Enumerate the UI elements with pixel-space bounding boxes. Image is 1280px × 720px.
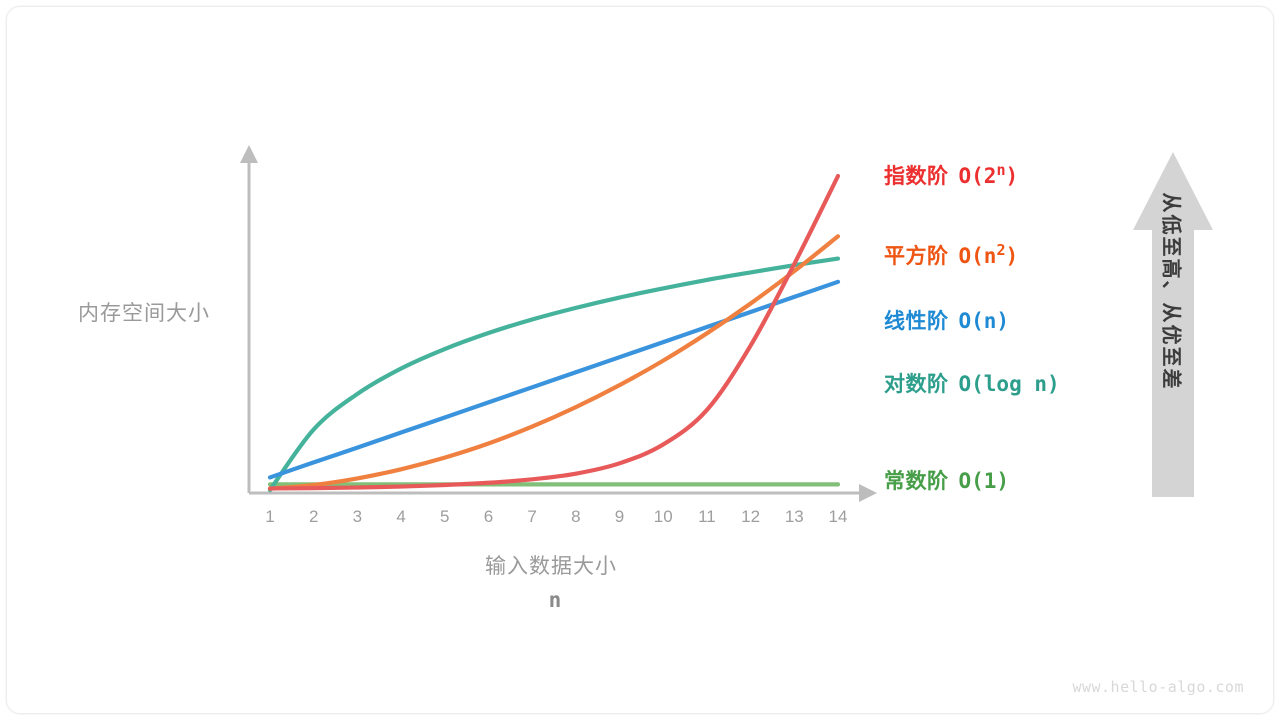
series-curve-对数阶 bbox=[270, 259, 838, 490]
legend-item-常数阶[interactable]: 常数阶O(1) bbox=[884, 471, 1009, 492]
arrow-label: 从低至高、从优至差 bbox=[1159, 162, 1188, 422]
x-tick-label: 7 bbox=[517, 507, 547, 527]
legend-notation: O(n2) bbox=[959, 244, 1019, 268]
x-tick-label: 9 bbox=[605, 507, 635, 527]
legend-label: 对数阶 bbox=[884, 373, 949, 396]
legend-label: 指数阶 bbox=[884, 165, 949, 188]
x-tick-label: 2 bbox=[299, 507, 329, 527]
watermark: www.hello-algo.com bbox=[1072, 678, 1244, 696]
x-tick-label: 14 bbox=[823, 507, 853, 527]
legend-item-指数阶[interactable]: 指数阶O(2n) bbox=[884, 166, 1018, 187]
legend-notation: O(log n) bbox=[959, 372, 1060, 396]
x-tick-label: 1 bbox=[255, 507, 285, 527]
series-paths bbox=[270, 176, 838, 490]
series-curve-线性阶 bbox=[270, 282, 838, 478]
x-tick-label: 5 bbox=[430, 507, 460, 527]
x-tick-label: 12 bbox=[736, 507, 766, 527]
legend-label: 平方阶 bbox=[884, 245, 949, 268]
x-tick-label: 4 bbox=[386, 507, 416, 527]
legend-label: 常数阶 bbox=[884, 470, 949, 493]
x-tick-label: 13 bbox=[779, 507, 809, 527]
legend-notation: O(1) bbox=[959, 469, 1010, 493]
legend-notation: O(n) bbox=[959, 309, 1010, 333]
legend-item-对数阶[interactable]: 对数阶O(log n) bbox=[884, 374, 1060, 395]
x-tick-label: 6 bbox=[473, 507, 503, 527]
series-curve-指数阶 bbox=[270, 176, 838, 488]
x-axis-label-text: 输入数据大小 bbox=[485, 555, 617, 578]
legend-item-线性阶[interactable]: 线性阶O(n) bbox=[884, 311, 1009, 332]
chart-canvas: 1234567891011121314 内存空间大小 输入数据大小 n 指数阶O… bbox=[0, 0, 1280, 720]
legend-notation: O(2n) bbox=[959, 164, 1019, 188]
legend-label: 线性阶 bbox=[884, 310, 949, 333]
legend: 指数阶O(2n)平方阶O(n2)线性阶O(n)对数阶O(log n)常数阶O(1… bbox=[884, 0, 1144, 720]
legend-item-平方阶[interactable]: 平方阶O(n2) bbox=[884, 246, 1018, 267]
ranking-arrow: 从低至高、从优至差 bbox=[1133, 152, 1213, 497]
x-tick-label: 8 bbox=[561, 507, 591, 527]
x-tick-label: 3 bbox=[342, 507, 372, 527]
x-tick-label: 11 bbox=[692, 507, 722, 527]
y-axis-label: 内存空间大小 bbox=[78, 297, 210, 327]
x-tick-label: 10 bbox=[648, 507, 678, 527]
